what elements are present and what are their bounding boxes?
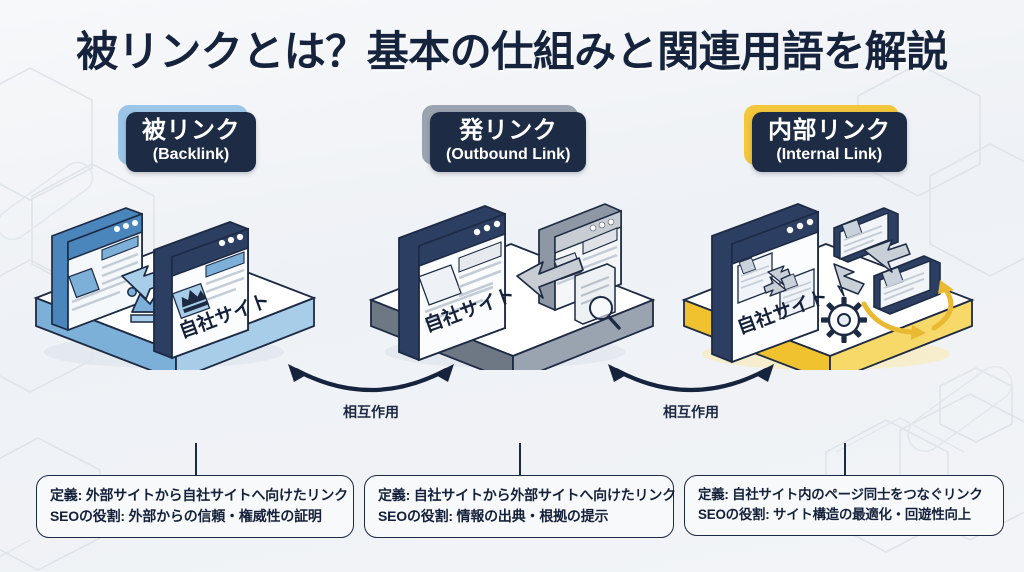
illustration-backlink: 自社サイト xyxy=(14,180,344,370)
interaction-arrow-group-2: 相互作用 xyxy=(596,362,786,407)
badge-en-label: (Internal Link) xyxy=(768,146,891,164)
badge-en-label: (Outbound Link) xyxy=(446,146,570,164)
caption-connector-line xyxy=(195,443,197,476)
caption-definition: 定義: 自社サイトから外部サイトへ向けたリンク xyxy=(378,485,660,506)
document-magnifier-icon xyxy=(575,264,619,328)
badge-jp-label: 発リンク xyxy=(446,118,570,145)
double-arrow-icon xyxy=(276,362,466,402)
interaction-label: 相互作用 xyxy=(596,402,786,422)
badge-jp-label: 被リンク xyxy=(142,118,240,145)
page-title: 被リンクとは？基本の仕組みと関連用語を解説 xyxy=(0,18,1024,79)
caption-connector-line xyxy=(519,443,521,476)
interaction-arrow-group-1: 相互作用 xyxy=(276,362,466,407)
caption-definition: 定義: 外部サイトから自社サイトへ向けたリンク xyxy=(50,485,340,506)
caption-connector-line xyxy=(844,443,846,476)
caption-box-outbound-link: 定義: 自社サイトから外部サイトへ向けたリンク SEOの役割: 情報の出典・根拠… xyxy=(364,475,674,538)
interaction-label: 相互作用 xyxy=(276,402,466,422)
caption-seo-role: SEOの役割: 外部からの信頼・権威性の証明 xyxy=(50,506,340,527)
badge-internal-wrapper: 内部リンク (Internal Link) xyxy=(752,112,907,172)
badge-backlink[interactable]: 被リンク (Backlink) xyxy=(126,112,256,172)
badge-outbound-wrapper: 発リンク (Outbound Link) xyxy=(430,112,586,172)
caption-definition: 定義: 自社サイト内のページ同士をつなぐリンク xyxy=(698,485,990,505)
infographic-canvas: 被リンクとは？基本の仕組みと関連用語を解説 被リンク (Backlink) 発リ… xyxy=(0,0,1024,572)
caption-seo-role: SEOの役割: 情報の出典・根拠の提示 xyxy=(378,506,660,527)
badge-backlink-wrapper: 被リンク (Backlink) xyxy=(126,112,256,172)
illustration-internal-link: 自社サイト xyxy=(668,180,1008,370)
badge-jp-label: 内部リンク xyxy=(768,118,891,145)
caption-box-internal-link: 定義: 自社サイト内のページ同士をつなぐリンク SEOの役割: サイト構造の最適… xyxy=(684,475,1004,536)
badge-outbound-link[interactable]: 発リンク (Outbound Link) xyxy=(430,112,586,172)
caption-box-backlink: 定義: 外部サイトから自社サイトへ向けたリンク SEOの役割: 外部からの信頼・… xyxy=(36,475,354,538)
caption-seo-role: SEOの役割: サイト構造の最適化・回遊性向上 xyxy=(698,505,990,525)
badge-internal-link[interactable]: 内部リンク (Internal Link) xyxy=(752,112,907,172)
illustration-outbound-link: 自社サイト xyxy=(353,180,683,370)
badge-en-label: (Backlink) xyxy=(142,146,240,164)
double-arrow-icon xyxy=(596,362,786,402)
